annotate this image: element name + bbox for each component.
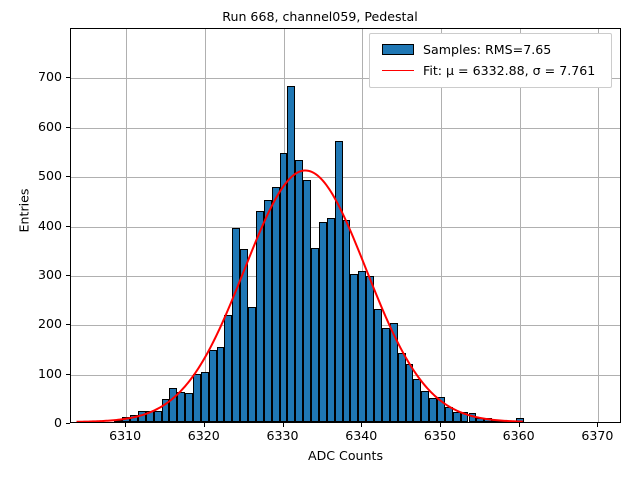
histogram-bar — [217, 347, 225, 422]
y-tick-label: 0 — [8, 415, 62, 430]
x-tick-mark — [361, 423, 362, 427]
histogram-bar — [476, 418, 484, 422]
histogram-bar — [287, 86, 295, 422]
histogram-bar — [185, 393, 193, 422]
legend-swatch-line-icon — [377, 70, 419, 71]
histogram-bar — [437, 397, 445, 422]
histogram-bar — [406, 364, 414, 422]
histogram-bar — [130, 415, 138, 422]
histogram-bar — [162, 399, 170, 422]
histogram-bar — [445, 407, 453, 422]
y-tick-mark — [66, 423, 70, 424]
x-tick-mark — [125, 423, 126, 427]
legend-item-fit: Fit: μ = 6332.88, σ = 7.761 — [377, 60, 604, 81]
histogram-bar — [146, 411, 154, 422]
x-tick-mark — [283, 423, 284, 427]
histogram-bar — [232, 228, 240, 422]
y-tick-mark — [66, 324, 70, 325]
histogram-bar — [350, 274, 358, 422]
y-tick-label: 600 — [8, 119, 62, 134]
histogram-bar — [311, 248, 319, 422]
y-tick-mark — [66, 275, 70, 276]
histogram-bar — [492, 420, 500, 422]
x-tick-label: 6320 — [169, 428, 239, 443]
histogram-bar — [453, 412, 461, 422]
histogram-bar — [224, 315, 232, 422]
histogram-bar — [366, 276, 374, 422]
y-tick-mark — [66, 127, 70, 128]
histogram-bar — [295, 160, 303, 422]
page-title: Run 668, channel059, Pedestal — [0, 9, 640, 24]
y-tick-mark — [66, 77, 70, 78]
x-tick-label: 6340 — [326, 428, 396, 443]
histogram-bar — [272, 187, 280, 422]
x-axis-label: ADC Counts — [70, 448, 621, 463]
histogram-bar — [177, 392, 185, 422]
y-axis-label: Entries — [17, 151, 32, 271]
histogram-bar — [138, 411, 146, 422]
histogram-bar — [201, 372, 209, 422]
y-tick-mark — [66, 226, 70, 227]
x-tick-mark — [597, 423, 598, 427]
histogram-bar — [429, 398, 437, 422]
histogram-bar — [240, 249, 248, 422]
x-tick-mark — [440, 423, 441, 427]
x-tick-label: 6360 — [484, 428, 554, 443]
histogram-bar — [358, 271, 366, 422]
x-tick-label: 6330 — [248, 428, 318, 443]
figure-canvas: Run 668, channel059, Pedestal 6310632063… — [0, 0, 640, 480]
histogram-bar — [114, 420, 122, 422]
histogram-bar — [382, 328, 390, 422]
histogram-bar — [264, 200, 272, 422]
y-tick-label: 200 — [8, 316, 62, 331]
histogram-bar — [390, 323, 398, 422]
histogram-bar — [280, 153, 288, 422]
histogram-bar — [122, 417, 130, 422]
histogram-bar — [469, 413, 477, 422]
x-tick-mark — [519, 423, 520, 427]
histogram-bar — [303, 180, 311, 422]
histogram-bar — [343, 220, 351, 422]
legend-swatch-patch-icon — [377, 44, 419, 55]
y-tick-mark — [66, 374, 70, 375]
histogram-bar — [319, 222, 327, 422]
histogram-bar — [516, 418, 524, 422]
x-tick-label: 6350 — [405, 428, 475, 443]
histogram-bar — [209, 350, 217, 422]
x-tick-label: 6370 — [562, 428, 632, 443]
histogram-bar — [256, 211, 264, 422]
histogram-bar — [398, 353, 406, 422]
histogram-bar — [169, 388, 177, 422]
histogram-bar — [374, 309, 382, 422]
histogram-bar — [248, 307, 256, 422]
legend-label-fit: Fit: μ = 6332.88, σ = 7.761 — [419, 63, 595, 78]
histogram-bar — [154, 411, 162, 422]
histogram-bar — [327, 218, 335, 422]
histogram-bar — [193, 374, 201, 422]
x-tick-mark — [204, 423, 205, 427]
legend[interactable]: Samples: RMS=7.65 Fit: μ = 6332.88, σ = … — [369, 33, 612, 88]
histogram-bar — [335, 141, 343, 422]
y-tick-label: 100 — [8, 366, 62, 381]
histogram-bar — [461, 412, 469, 422]
histogram-bar — [484, 418, 492, 422]
y-tick-label: 700 — [8, 69, 62, 84]
x-tick-label: 6310 — [90, 428, 160, 443]
legend-label-samples: Samples: RMS=7.65 — [419, 42, 551, 57]
histogram-bar — [421, 391, 429, 422]
legend-item-samples: Samples: RMS=7.65 — [377, 39, 604, 60]
histogram-bar — [413, 379, 421, 422]
y-tick-mark — [66, 176, 70, 177]
histogram-bar — [500, 420, 508, 422]
